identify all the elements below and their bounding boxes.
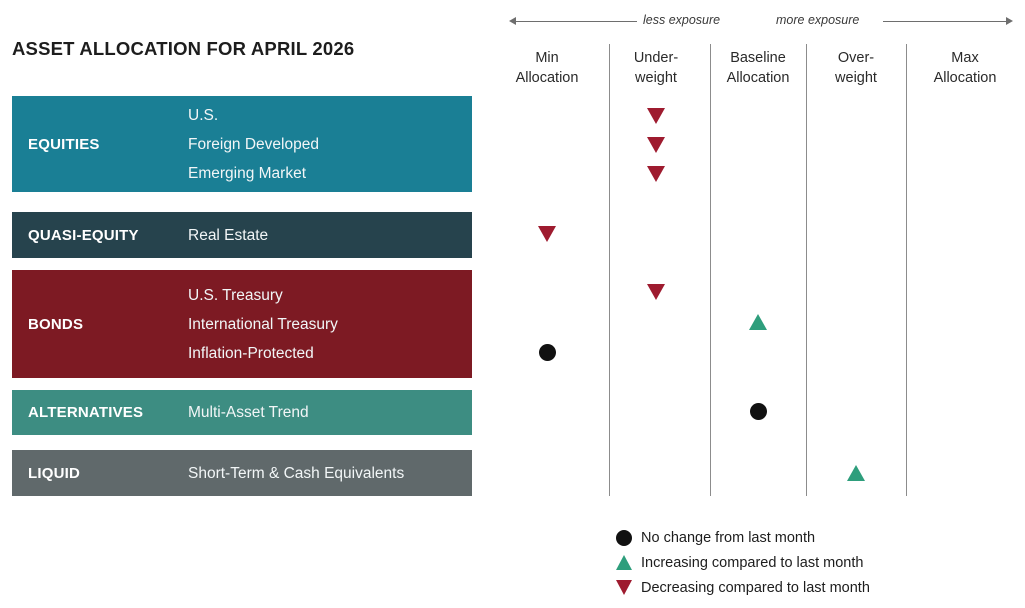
asset-class-name: BONDS	[12, 316, 188, 333]
holding-label: Inflation-Protected	[188, 339, 472, 368]
asset-class-band: BONDSU.S. TreasuryInternational Treasury…	[12, 270, 472, 378]
increase-marker-icon	[616, 555, 632, 570]
column-header-line1: Baseline	[703, 48, 813, 68]
allocation-column-header: Over-weight	[801, 48, 911, 88]
holding-label: U.S.	[188, 101, 472, 130]
legend-item: Decreasing compared to last month	[607, 575, 870, 600]
increase-marker	[749, 314, 767, 330]
holding-list: Multi-Asset Trend	[188, 398, 472, 427]
column-header-line1: Over-	[801, 48, 911, 68]
no-change-marker-icon	[616, 530, 632, 546]
less-exposure-line	[515, 21, 637, 22]
legend-label: No change from last month	[641, 530, 815, 546]
asset-class-name: QUASI-EQUITY	[12, 227, 188, 244]
holding-label: Multi-Asset Trend	[188, 398, 472, 427]
asset-class-name: LIQUID	[12, 465, 188, 482]
decrease-marker-icon	[616, 580, 632, 595]
column-divider	[906, 44, 907, 496]
holding-list: Real Estate	[188, 221, 472, 250]
asset-class-band: EQUITIESU.S.Foreign DevelopedEmerging Ma…	[12, 96, 472, 192]
asset-class-panel: ASSET ALLOCATION FOR APRIL 2026 EQUITIES…	[0, 0, 495, 608]
page-title: ASSET ALLOCATION FOR APRIL 2026	[12, 38, 354, 60]
column-header-line1: Under-	[601, 48, 711, 68]
legend-item: No change from last month	[607, 525, 870, 550]
holding-label: International Treasury	[188, 310, 472, 339]
column-header-line2: Allocation	[492, 68, 602, 88]
legend-glyph	[607, 580, 641, 595]
column-header-line2: weight	[801, 68, 911, 88]
more-exposure-line	[883, 21, 1009, 22]
allocation-column-header: Under-weight	[601, 48, 711, 88]
column-header-line2: Allocation	[703, 68, 813, 88]
holding-label: Foreign Developed	[188, 130, 472, 159]
asset-class-name: ALTERNATIVES	[12, 404, 188, 421]
decrease-marker	[647, 284, 665, 300]
asset-class-band: LIQUIDShort-Term & Cash Equivalents	[12, 450, 472, 496]
column-divider	[710, 44, 711, 496]
more-exposure-label: more exposure	[776, 13, 859, 27]
more-exposure-arrowhead-icon	[1006, 17, 1013, 25]
decrease-marker	[538, 226, 556, 242]
asset-class-name: EQUITIES	[12, 136, 188, 153]
increase-marker	[847, 465, 865, 481]
allocation-column-header: BaselineAllocation	[703, 48, 813, 88]
allocation-column-header: MinAllocation	[492, 48, 602, 88]
less-exposure-label: less exposure	[643, 13, 720, 27]
legend-label: Decreasing compared to last month	[641, 580, 870, 596]
asset-class-band: ALTERNATIVESMulti-Asset Trend	[12, 390, 472, 435]
column-divider	[806, 44, 807, 496]
column-header-line1: Max	[910, 48, 1020, 68]
holding-list: U.S. TreasuryInternational TreasuryInfla…	[188, 281, 472, 368]
decrease-marker	[647, 108, 665, 124]
asset-class-band: QUASI-EQUITYReal Estate	[12, 212, 472, 258]
holding-label: U.S. Treasury	[188, 281, 472, 310]
legend: No change from last monthIncreasing comp…	[607, 525, 870, 600]
decrease-marker	[647, 137, 665, 153]
holding-label: Short-Term & Cash Equivalents	[188, 459, 472, 488]
column-header-line2: Allocation	[910, 68, 1020, 88]
no-change-marker	[750, 403, 767, 420]
holding-list: Short-Term & Cash Equivalents	[188, 459, 472, 488]
allocation-column-header: MaxAllocation	[910, 48, 1020, 88]
column-header-line1: Min	[492, 48, 602, 68]
allocation-scale-panel: less exposure more exposure MinAllocatio…	[495, 0, 1025, 608]
column-header-line2: weight	[601, 68, 711, 88]
legend-label: Increasing compared to last month	[641, 555, 863, 571]
holding-list: U.S.Foreign DevelopedEmerging Market	[188, 101, 472, 188]
legend-glyph	[607, 530, 641, 546]
no-change-marker	[539, 344, 556, 361]
decrease-marker	[647, 166, 665, 182]
holding-label: Real Estate	[188, 221, 472, 250]
column-divider	[609, 44, 610, 496]
legend-glyph	[607, 555, 641, 570]
holding-label: Emerging Market	[188, 159, 472, 188]
legend-item: Increasing compared to last month	[607, 550, 870, 575]
